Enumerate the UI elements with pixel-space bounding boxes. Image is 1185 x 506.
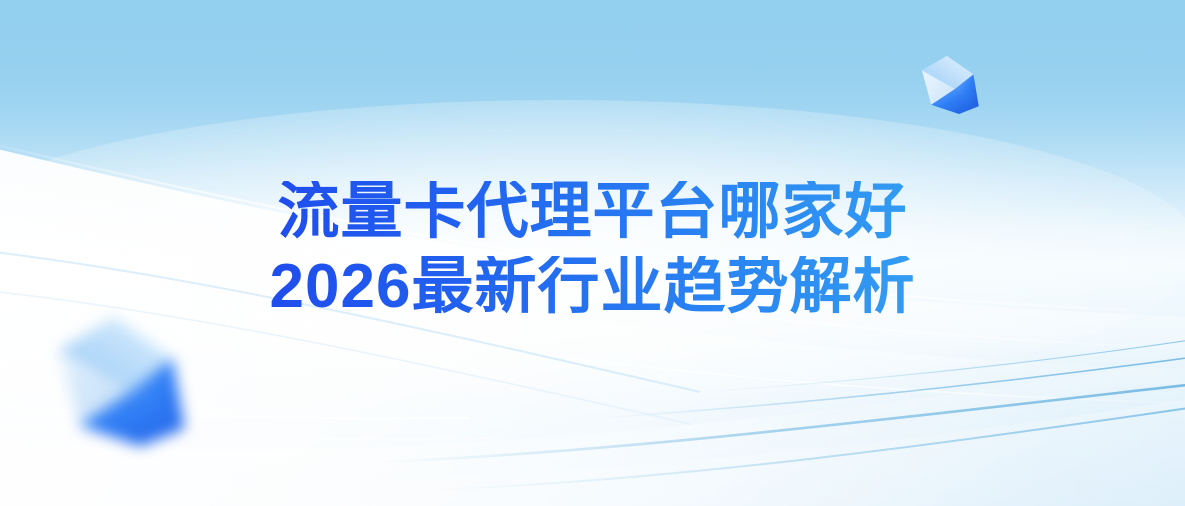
cube-icon-blurred — [48, 300, 198, 455]
promo-banner: 流量卡代理平台哪家好 2026最新行业趋势解析 — [0, 0, 1185, 506]
headline-line-2: 2026最新行业趋势解析 — [0, 256, 1185, 318]
headline-line-1: 流量卡代理平台哪家好 — [0, 181, 1185, 243]
headline-block: 流量卡代理平台哪家好 2026最新行业趋势解析 — [0, 181, 1185, 318]
cube-icon — [918, 48, 984, 118]
